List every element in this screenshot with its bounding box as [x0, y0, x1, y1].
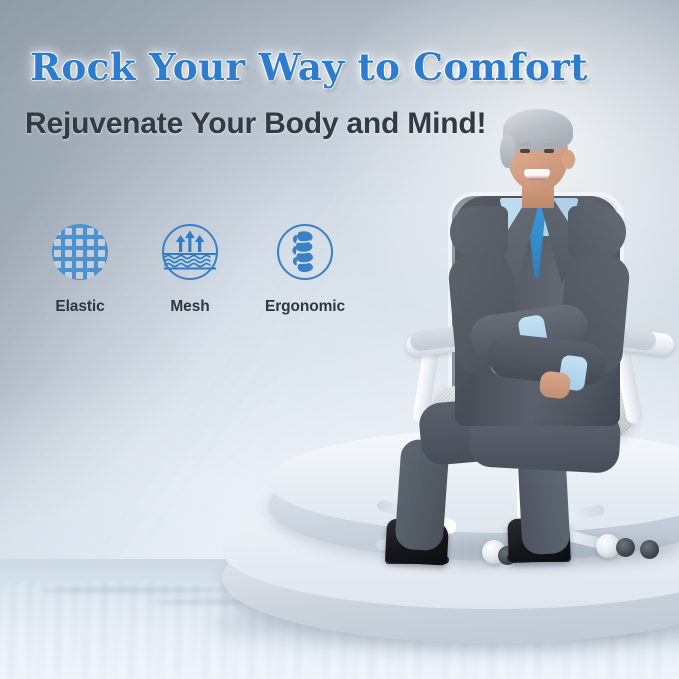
- scene-haze: [0, 0, 679, 679]
- page-title: Rock Your Way to Comfort: [30, 45, 588, 89]
- product-banner: Rock Your Way to Comfort Rejuvenate Your…: [0, 0, 679, 679]
- spine-ergonomic-icon: [271, 218, 339, 286]
- page-subtitle: Rejuvenate Your Body and Mind!: [25, 107, 486, 141]
- feature-label: Mesh: [125, 298, 255, 316]
- elastic-weave-icon: [46, 218, 114, 286]
- feature-label: Ergonomic: [240, 298, 370, 316]
- feature-item-ergonomic: Ergonomic: [240, 218, 370, 316]
- mesh-airflow-icon: [156, 218, 224, 286]
- feature-item-mesh: Mesh: [125, 218, 255, 316]
